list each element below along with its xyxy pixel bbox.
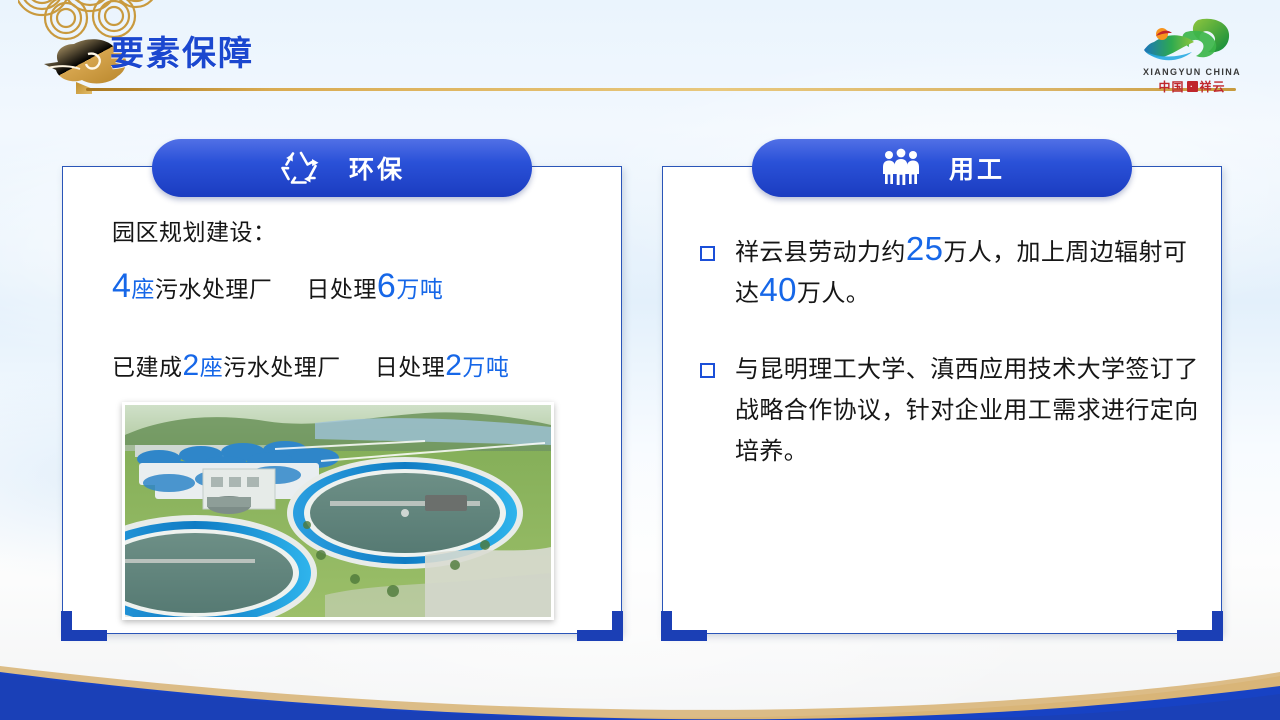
list-item: 与昆明理工大学、滇西应用技术大学签订了战略合作协议，针对企业用工需求进行定向培养…: [700, 349, 1200, 473]
built-facility: 污水处理厂: [223, 348, 341, 382]
xiangyun-brand-mark-icon: [1132, 16, 1252, 66]
environmental-body: 园区规划建设： 4 座 污水处理厂 日处理 6 万吨 已建成 2 座 污水处理厂…: [112, 218, 582, 382]
logo-cn-suffix: 祥云: [1200, 78, 1226, 95]
three-people-icon: [879, 148, 923, 188]
panel-header-environmental: 环保: [152, 139, 532, 197]
planned-facility: 污水处理厂: [155, 270, 273, 304]
bullet1-seg3: 万人。: [797, 280, 870, 307]
environmental-row-built: 已建成 2 座 污水处理厂 日处理 2 万吨: [112, 348, 582, 382]
list-item: 祥云县劳动力约25万人，加上周边辐射可达40万人。: [700, 232, 1200, 315]
panel-header-label-employment: 用工: [949, 150, 1005, 186]
bullet-square-icon: [700, 246, 715, 261]
logo-seal-icon: ·: [1187, 81, 1198, 92]
brand-logo: XIANGYUN CHINA 中国 · 祥云: [1132, 16, 1252, 100]
built-unit: 座: [200, 348, 224, 382]
slide-root: 要素保障 XIANGYUN CHINA 中国 · 祥云: [0, 0, 1280, 720]
panel-header-employment: 用工: [752, 139, 1132, 197]
planned-unit: 座: [131, 270, 155, 304]
environmental-intro: 园区规划建设：: [112, 218, 582, 247]
planned-capacity-value: 6: [377, 269, 396, 303]
environmental-row-planned: 4 座 污水处理厂 日处理 6 万吨: [112, 269, 582, 304]
logo-chinese-text: 中国 · 祥云: [1132, 78, 1252, 95]
panel-header-label-environmental: 环保: [349, 150, 405, 186]
header-divider: [86, 88, 1236, 91]
bottom-wave-decoration-icon: [0, 580, 1280, 720]
recycle-icon: [279, 148, 323, 188]
planned-capacity-label: 日处理: [306, 270, 377, 304]
built-count: 2: [183, 351, 200, 381]
employment-bullet-2: 与昆明理工大学、滇西应用技术大学签订了战略合作协议，针对企业用工需求进行定向培养…: [735, 349, 1200, 473]
built-capacity-value: 2: [445, 351, 462, 381]
bullet-square-icon: [700, 363, 715, 378]
planned-count: 4: [112, 269, 131, 303]
built-prefix: 已建成: [112, 348, 183, 382]
page-title: 要素保障: [110, 26, 254, 75]
bullet1-seg1: 祥云县劳动力约: [735, 239, 906, 266]
logo-english-text: XIANGYUN CHINA: [1132, 67, 1252, 77]
employment-body: 祥云县劳动力约25万人，加上周边辐射可达40万人。 与昆明理工大学、滇西应用技术…: [700, 232, 1200, 506]
planned-capacity-unit: 万吨: [396, 270, 443, 304]
bullet1-num2: 40: [759, 271, 797, 308]
logo-cn-prefix: 中国: [1158, 78, 1184, 95]
bullet1-num1: 25: [906, 230, 944, 267]
built-capacity-label: 日处理: [375, 348, 446, 382]
employment-bullet-1: 祥云县劳动力约25万人，加上周边辐射可达40万人。: [735, 232, 1200, 315]
built-capacity-unit: 万吨: [462, 348, 509, 382]
